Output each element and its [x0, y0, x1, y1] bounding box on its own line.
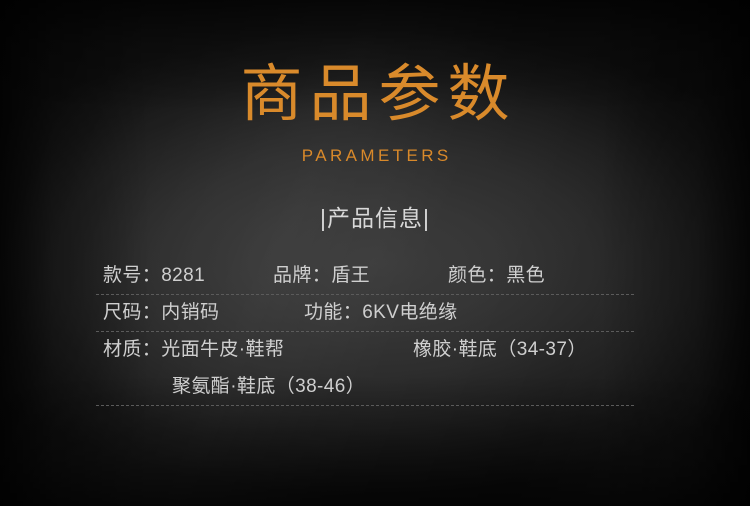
spec-sole-rubber: 橡胶·鞋底（34-37）: [413, 333, 587, 366]
table-row: 聚氨酯·鞋底（38-46）: [96, 369, 634, 406]
spec-function: 功能：6KV电绝缘: [304, 296, 458, 329]
table-row: 款号：8281 品牌：盾王 颜色：黑色: [96, 258, 634, 295]
spec-material-upper: 材质：光面牛皮·鞋帮: [103, 333, 284, 366]
spec-model: 款号：8281: [103, 259, 205, 292]
page-title: 商品参数: [0, 60, 750, 130]
content-area: 商品参数 PARAMETERS |产品信息| 款号：8281 品牌：盾王 颜色：…: [0, 0, 750, 506]
spec-brand: 品牌：盾王: [273, 259, 370, 292]
table-row: 尺码：内销码 功能：6KV电绝缘: [96, 295, 634, 332]
product-parameters-banner: 商品参数 PARAMETERS |产品信息| 款号：8281 品牌：盾王 颜色：…: [0, 0, 750, 506]
page-subtitle: PARAMETERS: [0, 145, 750, 167]
spec-sole-pu: 聚氨酯·鞋底（38-46）: [172, 370, 365, 403]
spec-table: 款号：8281 品牌：盾王 颜色：黑色 尺码：内销码 功能：6KV电绝缘 材质：…: [96, 258, 634, 406]
section-heading-product-info: |产品信息|: [0, 203, 750, 233]
spec-size: 尺码：内销码: [103, 296, 219, 329]
table-row: 材质：光面牛皮·鞋帮 橡胶·鞋底（34-37）: [96, 332, 634, 369]
spec-color: 颜色：黑色: [448, 259, 545, 292]
